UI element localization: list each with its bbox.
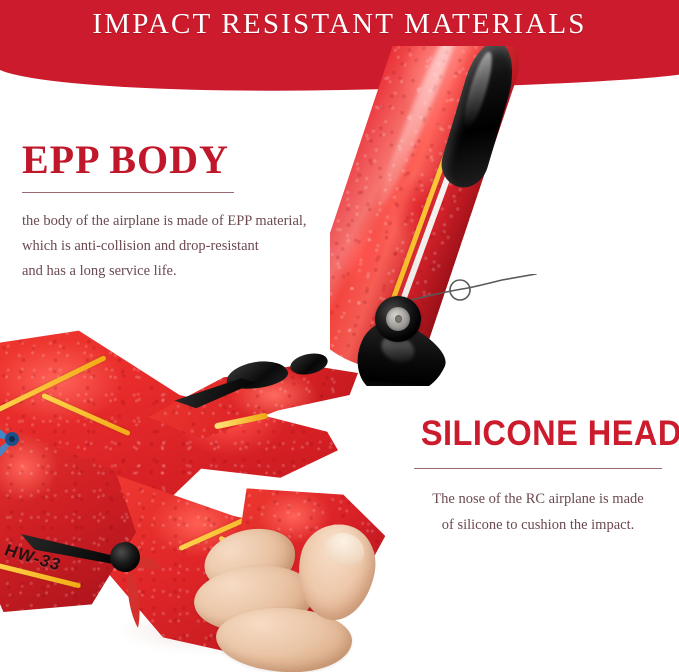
- hand-holding-wing: [194, 522, 400, 672]
- infographic-page: IMPACT RESISTANT MATERIALS EPP B: [0, 0, 679, 672]
- product-photo-wing: HW-33: [0, 322, 400, 672]
- epp-body-line-3: and has a long service life.: [22, 259, 367, 284]
- silicone-head-line-2: of silicone to cushion the impact.: [412, 512, 664, 538]
- silicone-head-divider: [414, 468, 662, 469]
- page-title: IMPACT RESISTANT MATERIALS: [0, 8, 679, 41]
- feature-epp-body: EPP BODY the body of the airplane is mad…: [22, 138, 367, 284]
- feature-silicone-head: SILICONE HEAD The nose of the RC airplan…: [412, 414, 664, 538]
- epp-body-line-1: the body of the airplane is made of EPP …: [22, 209, 367, 234]
- epp-body-line-2: which is anti-collision and drop-resista…: [22, 234, 367, 259]
- thumbnail: [321, 528, 369, 571]
- epp-body-divider: [22, 192, 234, 193]
- blue-propeller: [0, 412, 48, 466]
- silicone-head-line-1: The nose of the RC airplane is made: [412, 486, 664, 512]
- epp-body-description: the body of the airplane is made of EPP …: [22, 209, 367, 284]
- silicone-head-description: The nose of the RC airplane is made of s…: [412, 486, 664, 538]
- silicone-head-title: SILICONE HEAD: [421, 414, 655, 454]
- epp-body-title: EPP BODY: [22, 138, 367, 182]
- nose-wheel: [110, 542, 140, 572]
